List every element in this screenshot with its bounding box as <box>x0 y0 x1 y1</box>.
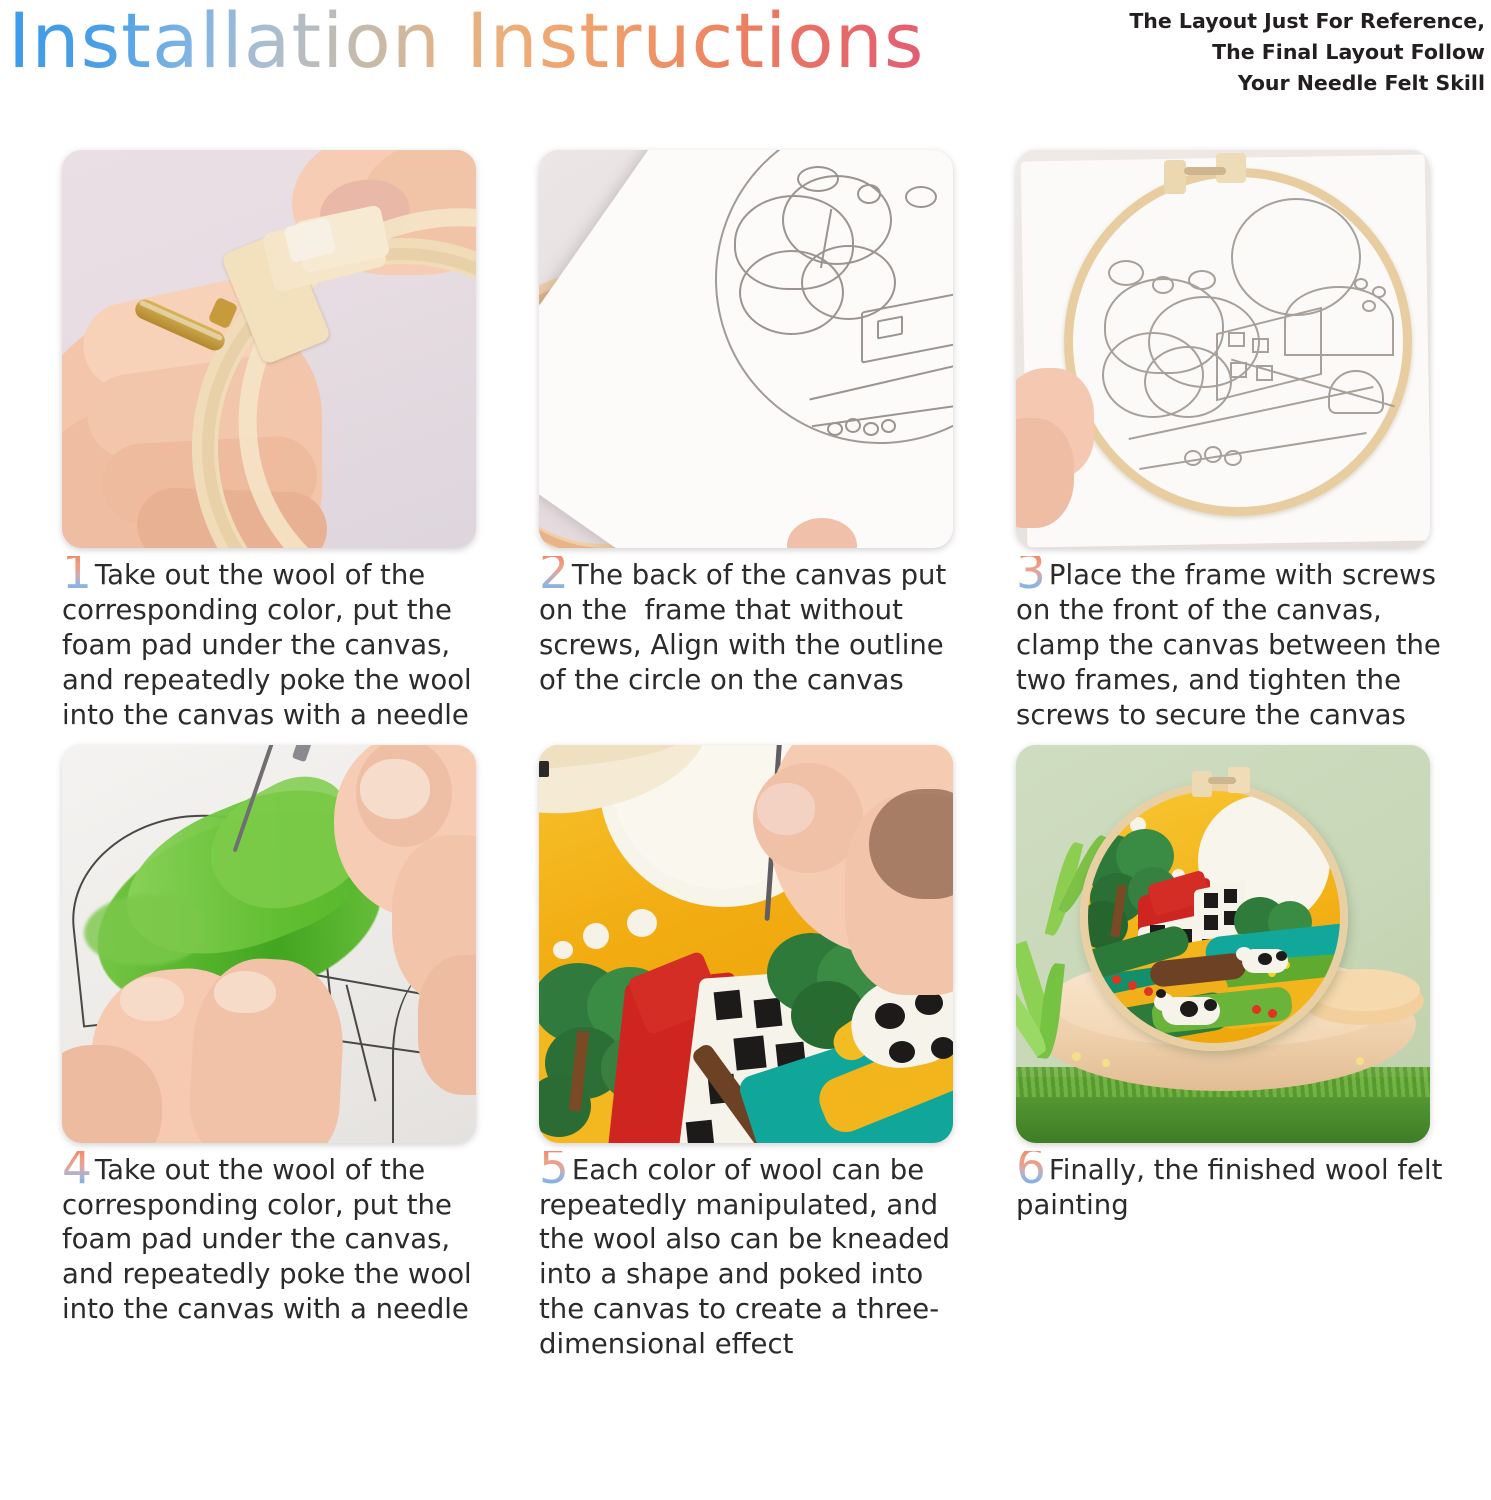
step-card-6: 6 Finally, the finished wool felt painti… <box>1016 745 1446 1363</box>
step-card-3: 3 Place the frame with screws on the fro… <box>1016 150 1446 733</box>
step-number-4: 4 <box>62 1151 92 1185</box>
step-caption-5: 5 Each color of wool can be repeatedly m… <box>539 1153 969 1363</box>
step-photo-3 <box>1016 150 1430 548</box>
step-card-4: 4 Take out the wool of the corresponding… <box>62 745 492 1363</box>
step-card-5: 5 Each color of wool can be repeatedly m… <box>539 745 969 1363</box>
step-number-1: 1 <box>62 556 92 590</box>
steps-grid: 1 Take out the wool of the corresponding… <box>0 150 1491 1362</box>
step-photo-6 <box>1016 745 1430 1143</box>
step-photo-1 <box>62 150 476 548</box>
step-text-3: Place the frame with screws on the front… <box>1016 559 1450 731</box>
step-number-3: 3 <box>1016 556 1046 590</box>
reference-note-line-2: The Final Layout Follow <box>1129 37 1485 68</box>
step-number-2: 2 <box>539 556 569 590</box>
step-caption-6: 6 Finally, the finished wool felt painti… <box>1016 1153 1446 1223</box>
step-number-6: 6 <box>1016 1151 1046 1185</box>
step-card-2: 2 The back of the canvas put on the fram… <box>539 150 969 733</box>
step-caption-3: 3 Place the frame with screws on the fro… <box>1016 558 1446 733</box>
step-card-1: 1 Take out the wool of the corresponding… <box>62 150 492 733</box>
step-photo-5 <box>539 745 953 1143</box>
step-caption-1: 1 Take out the wool of the corresponding… <box>62 558 492 733</box>
step-text-6: Finally, the finished wool felt painting <box>1016 1154 1451 1221</box>
page-header: Installation Instructions The Layout Jus… <box>0 0 1491 118</box>
step-text-2: The back of the canvas put on the frame … <box>539 559 955 696</box>
step-text-1: Take out the wool of the corresponding c… <box>62 559 480 731</box>
step-photo-4 <box>62 745 476 1143</box>
reference-note-line-1: The Layout Just For Reference, <box>1129 6 1485 37</box>
reference-note-line-3: Your Needle Felt Skill <box>1129 68 1485 99</box>
step-caption-4: 4 Take out the wool of the corresponding… <box>62 1153 492 1328</box>
step-photo-2 <box>539 150 953 548</box>
reference-note: The Layout Just For Reference, The Final… <box>1129 6 1485 99</box>
page-title: Installation Instructions <box>8 0 924 85</box>
step-text-5: Each color of wool can be repeatedly man… <box>539 1154 959 1361</box>
step-caption-2: 2 The back of the canvas put on the fram… <box>539 558 969 698</box>
step-number-5: 5 <box>539 1151 569 1185</box>
step-text-4: Take out the wool of the corresponding c… <box>62 1154 480 1326</box>
